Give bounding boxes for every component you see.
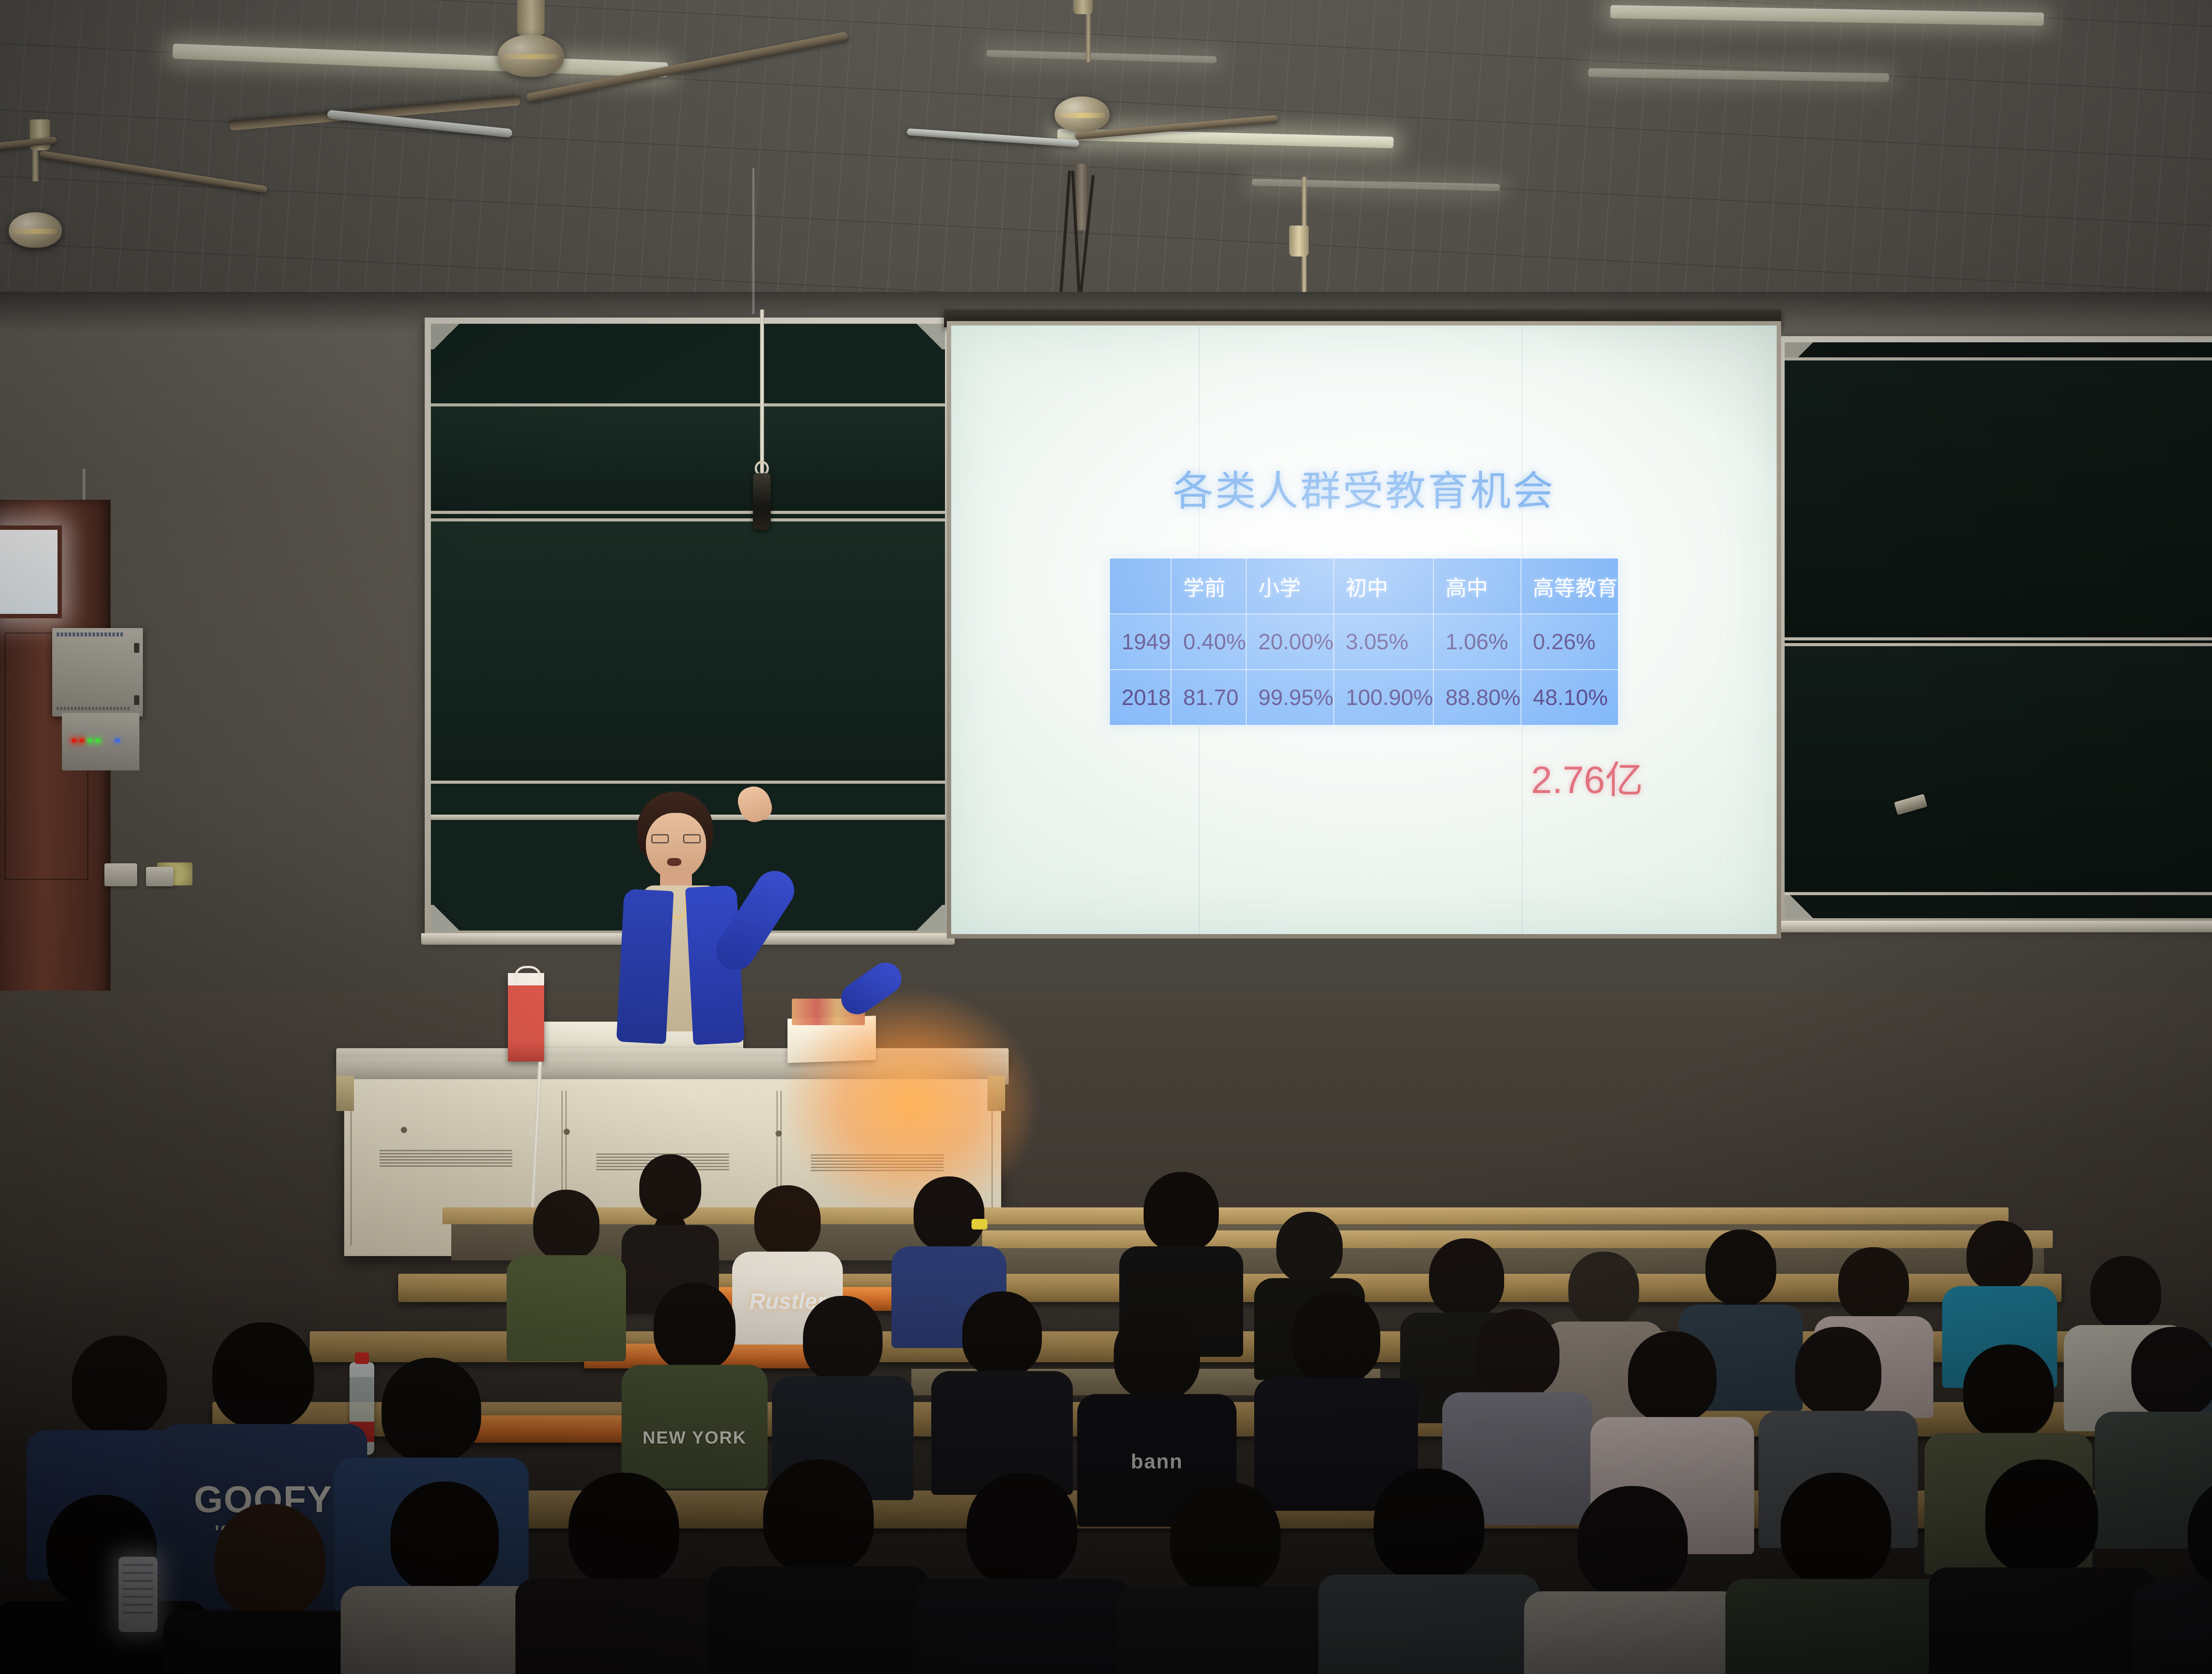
presentation-slide: 各类人群受教育机会 学前 小学 初中 高中 高等教育 xyxy=(951,326,1777,934)
student-torso xyxy=(507,1255,626,1361)
student xyxy=(1274,1291,1398,1468)
electrical-conduit xyxy=(752,168,755,314)
student-head xyxy=(1781,1473,1891,1586)
student-head xyxy=(914,1176,984,1251)
student-head xyxy=(962,1291,1042,1376)
student xyxy=(1761,1473,1911,1674)
lecturer-mouth xyxy=(667,858,681,866)
slide-annotation: 2.76亿 xyxy=(1531,749,1643,804)
student xyxy=(195,1504,345,1674)
lecturer xyxy=(593,792,779,1092)
slide-title: 各类人群受教育机会 xyxy=(1173,458,1555,517)
student xyxy=(947,1291,1057,1455)
cell-1949-senior-high: 1.06% xyxy=(1433,614,1521,670)
podium-vent xyxy=(811,1154,944,1173)
student-head xyxy=(2090,1256,2161,1329)
board-corner xyxy=(1785,893,1816,918)
student-head xyxy=(382,1358,481,1462)
student-head xyxy=(1292,1291,1380,1383)
ceiling-fan xyxy=(1270,177,1376,310)
board-panel xyxy=(431,403,945,514)
student-head xyxy=(1705,1230,1776,1305)
student xyxy=(1955,1221,2044,1353)
table-header-junior-high: 初中 xyxy=(1334,558,1433,614)
student-head xyxy=(215,1504,325,1618)
student xyxy=(947,1473,1097,1674)
table-header-senior-high: 高中 xyxy=(1433,558,1521,614)
status-led-green xyxy=(88,739,92,743)
student-head xyxy=(72,1336,167,1435)
education-opportunity-table: 学前 小学 初中 高中 高等教育 1949 0.40% 20.00% 3.05% xyxy=(1109,558,1619,726)
student xyxy=(372,1482,518,1674)
hair-clip xyxy=(972,1219,987,1230)
garment-text: bann xyxy=(1077,1451,1237,1472)
right-chalk-ledge xyxy=(1775,921,2212,932)
student-torso xyxy=(1929,1567,2154,1674)
student-torso xyxy=(1117,1587,1334,1674)
status-led-red xyxy=(80,739,84,743)
cell-1949-higher-education: 0.26% xyxy=(1521,614,1618,670)
student-head xyxy=(1838,1247,1909,1321)
control-panel-label xyxy=(57,632,123,636)
student-head xyxy=(212,1322,314,1429)
student-head xyxy=(763,1459,874,1574)
student-head xyxy=(1985,1459,2098,1574)
student xyxy=(549,1473,699,1674)
student-head xyxy=(1170,1482,1281,1594)
garment-text: NEW YORK xyxy=(622,1429,768,1447)
wall-power-socket[interactable] xyxy=(146,867,173,886)
ceiling-fan xyxy=(460,0,602,137)
student-head xyxy=(967,1473,1077,1586)
student-torso xyxy=(1725,1579,1947,1674)
status-led-red xyxy=(72,739,77,743)
podium-corner-trim xyxy=(987,1076,1005,1111)
student-head xyxy=(1577,1486,1688,1598)
cell-2018-primary: 99.95% xyxy=(1246,670,1334,725)
student xyxy=(1460,1309,1575,1482)
student-head xyxy=(2131,1327,2212,1417)
lecturer-cardigan-left xyxy=(616,889,674,1044)
podium-corner-trim xyxy=(336,1076,354,1111)
cell-2018-preschool: 81.70 xyxy=(1171,670,1246,725)
panel-hinge xyxy=(134,643,139,653)
table-header-primary: 小学 xyxy=(1246,558,1334,614)
student xyxy=(787,1296,898,1459)
student: bann xyxy=(1097,1309,1217,1486)
podium-cabinet-knob[interactable] xyxy=(776,1130,782,1137)
student xyxy=(2168,1477,2212,1674)
projection-screen: 各类人群受教育机会 学前 小学 初中 高中 高等教育 xyxy=(951,326,1777,934)
student-head xyxy=(1144,1172,1219,1252)
student-torso xyxy=(1524,1591,1741,1674)
student-torso xyxy=(708,1567,929,1674)
cell-2018-senior-high: 88.80% xyxy=(1433,670,1521,725)
podium-cabinet-knob[interactable] xyxy=(401,1127,407,1133)
podium-vent xyxy=(380,1150,512,1168)
student-head xyxy=(639,1154,701,1221)
cell-1949-preschool: 0.40% xyxy=(1171,614,1246,670)
student-head xyxy=(1966,1221,2033,1291)
door-window xyxy=(0,525,62,618)
student-head xyxy=(1475,1309,1559,1398)
student-torso xyxy=(1318,1574,1540,1674)
gift-bag-on-podium[interactable] xyxy=(508,973,544,1061)
student xyxy=(628,1154,712,1287)
student-head xyxy=(1628,1331,1717,1422)
cell-1949-primary: 20.00% xyxy=(1246,614,1334,670)
student-head xyxy=(1568,1252,1639,1326)
right-blackboard xyxy=(1778,336,2212,924)
cell-1949-junior-high: 3.05% xyxy=(1334,614,1433,670)
wall-control-panel-lower[interactable] xyxy=(62,713,139,770)
control-panel-led-row xyxy=(72,739,120,743)
ceiling-fan xyxy=(1040,0,1155,133)
student-head xyxy=(2188,1477,2212,1590)
student xyxy=(1150,1482,1301,1674)
mic-head xyxy=(753,473,771,530)
student-head xyxy=(1114,1309,1200,1400)
row-label-2018: 2018 xyxy=(1110,670,1171,725)
student-torso xyxy=(914,1579,1130,1674)
student xyxy=(743,1459,894,1672)
projection-screen-frame: 各类人群受教育机会 学前 小学 初中 高中 高等教育 xyxy=(947,321,1781,939)
table-header-preschool: 学前 xyxy=(1171,558,1246,614)
wall-control-panel[interactable] xyxy=(52,628,143,716)
wall-power-socket[interactable] xyxy=(104,863,137,886)
table-header-higher-education: 高等教育 xyxy=(1521,558,1618,614)
student xyxy=(522,1190,611,1322)
table-row: 1949 0.40% 20.00% 3.05% 1.06% 0.26% xyxy=(1110,614,1618,670)
board-corner xyxy=(431,905,462,931)
student xyxy=(1557,1486,1708,1674)
panel-hinge xyxy=(134,695,139,705)
hanging-microphone xyxy=(760,310,764,478)
lecturer-face xyxy=(646,813,706,879)
status-led-green xyxy=(96,739,100,743)
student-head xyxy=(533,1190,599,1260)
lecture-hall-photo: 各类人群受教育机会 学前 小学 初中 高中 高等教育 xyxy=(0,0,2212,1674)
student-head xyxy=(568,1473,679,1586)
student xyxy=(1133,1172,1230,1318)
student-head xyxy=(1374,1468,1484,1582)
board-corner xyxy=(431,324,462,349)
student-head xyxy=(1429,1238,1504,1317)
cell-2018-junior-high: 100.90% xyxy=(1334,670,1433,725)
student: Rustler xyxy=(743,1185,832,1309)
control-panel-sublabel xyxy=(57,707,130,710)
board-corner xyxy=(914,324,945,349)
board-corner xyxy=(914,905,945,931)
student-head xyxy=(654,1283,736,1371)
student-head xyxy=(391,1482,499,1593)
student-torso xyxy=(515,1579,732,1674)
board-panel xyxy=(1785,643,2212,895)
student xyxy=(1354,1468,1504,1674)
podium-cabinet-knob[interactable] xyxy=(564,1129,570,1135)
student-torso xyxy=(2132,1583,2212,1674)
cell-2018-higher-education: 48.10% xyxy=(1521,670,1618,725)
table-header-row: 学前 小学 初中 高中 高等教育 xyxy=(1110,558,1618,614)
student-head xyxy=(1795,1327,1882,1416)
right-blackboard-surface xyxy=(1785,342,2212,918)
table-row: 2018 81.70 99.95% 100.90% 88.80% 48.10% xyxy=(1110,670,1618,725)
student-head xyxy=(803,1296,883,1382)
student: NEW YORK xyxy=(637,1283,752,1451)
row-label-1949: 1949 xyxy=(1110,614,1171,670)
smartphone-screen[interactable] xyxy=(119,1557,157,1632)
student xyxy=(1964,1459,2119,1674)
student-head xyxy=(754,1185,821,1256)
lecturer-glasses xyxy=(651,834,701,844)
student xyxy=(1610,1331,1734,1508)
student-head xyxy=(1276,1212,1343,1283)
status-led-blue xyxy=(115,739,120,743)
board-panel xyxy=(1785,357,2212,640)
table-header-corner xyxy=(1110,558,1171,614)
board-panel xyxy=(431,518,945,784)
student-head xyxy=(1963,1345,2054,1438)
